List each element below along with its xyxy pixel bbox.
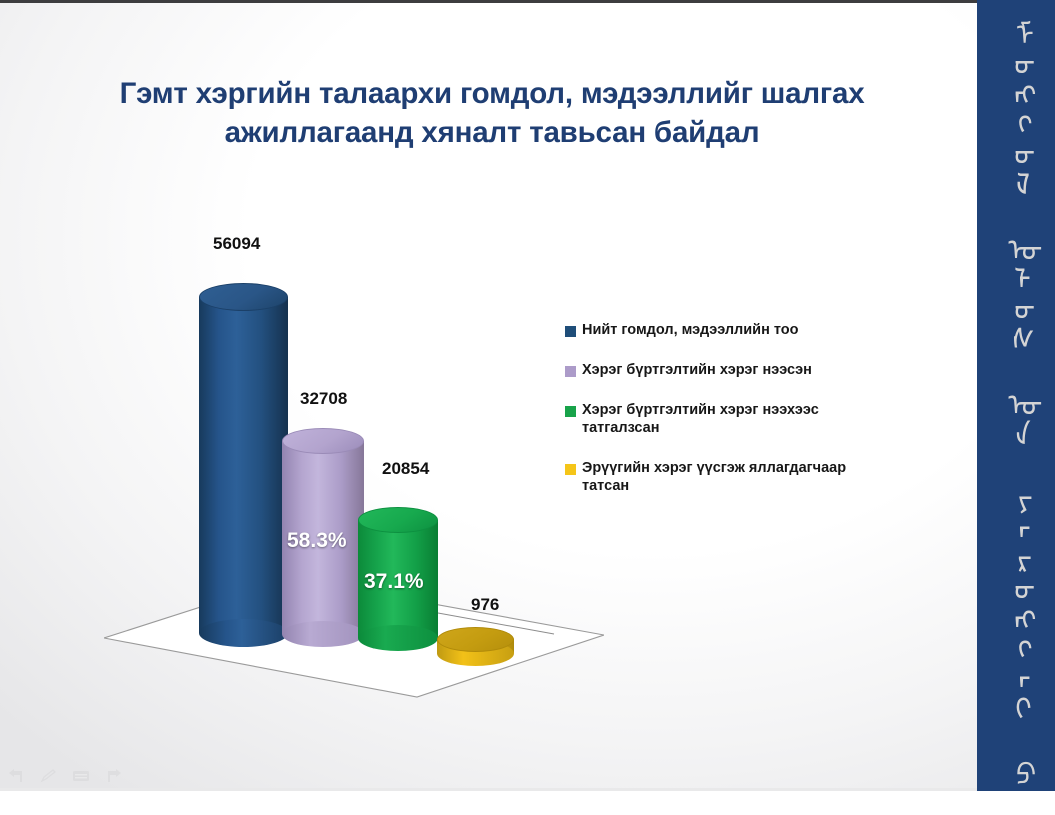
value-label-2: 32708: [300, 389, 347, 409]
legend-swatch-icon-2: [565, 366, 576, 377]
mongolian-script-text: ᠮᠣᠩᠭᠣᠯ ᠤᠯᠤᠰ ᠤᠨ ᠶᠡᠷᠦᠩᠬᠡᠢ ᠫᠷᠣᠻᠦᠷᠣᠷ ᠤᠨ ᠭᠠᠵᠠ…: [1000, 18, 1032, 768]
bar-series-1: [199, 283, 288, 647]
legend-item-4[interactable]: Эрүүгийн хэрэг үүсгэж яллагдагчаар татса…: [565, 460, 915, 496]
chart-legend: Нийт гомдол, мэдээллийн тоо Хэрэг бүртгэ…: [565, 322, 915, 496]
cylinder-bar-chart: 56094 32708 20854 976 58.3% 37.1% Нийт г…: [0, 0, 977, 791]
percent-label-2: 58.3%: [287, 529, 347, 553]
legend-swatch-icon-4: [565, 464, 576, 475]
presentation-slide: Гэмт хэргийн талаархи гомдол, мэдээллийг…: [0, 0, 1055, 815]
value-leader-line: [438, 612, 558, 638]
legend-item-2[interactable]: Хэрэг бүртгэлтийн хэрэг нээсэн: [565, 362, 915, 380]
legend-label-2: Хэрэг бүртгэлтийн хэрэг нээсэн: [582, 362, 812, 380]
value-label-3: 20854: [382, 459, 429, 479]
legend-label-3: Хэрэг бүртгэлтийн хэрэг нээхээс татгалзс…: [582, 402, 832, 438]
legend-swatch-icon-3: [565, 406, 576, 417]
slide-canvas: Гэмт хэргийн талаархи гомдол, мэдээллийг…: [0, 0, 1055, 791]
legend-label-1: Нийт гомдол, мэдээллийн тоо: [582, 322, 799, 340]
presentation-toolbar[interactable]: [8, 769, 122, 783]
value-label-1: 56094: [213, 234, 260, 254]
legend-item-3[interactable]: Хэрэг бүртгэлтийн хэрэг нээхээс татгалзс…: [565, 402, 915, 438]
previous-slide-icon[interactable]: [8, 769, 26, 783]
percent-label-3: 37.1%: [364, 570, 424, 594]
legend-swatch-icon-1: [565, 326, 576, 337]
menu-icon[interactable]: [72, 769, 90, 783]
pen-icon[interactable]: [40, 769, 58, 783]
legend-item-1[interactable]: Нийт гомдол, мэдээллийн тоо: [565, 322, 915, 340]
next-slide-icon[interactable]: [104, 769, 122, 783]
legend-label-4: Эрүүгийн хэрэг үүсгэж яллагдагчаар татса…: [582, 460, 872, 496]
mongolian-script-band: ᠮᠣᠩᠭᠣᠯ ᠤᠯᠤᠰ ᠤᠨ ᠶᠡᠷᠦᠩᠬᠡᠢ ᠫᠷᠣᠻᠦᠷᠣᠷ ᠤᠨ ᠭᠠᠵᠠ…: [977, 0, 1055, 791]
value-label-4: 976: [471, 595, 499, 615]
